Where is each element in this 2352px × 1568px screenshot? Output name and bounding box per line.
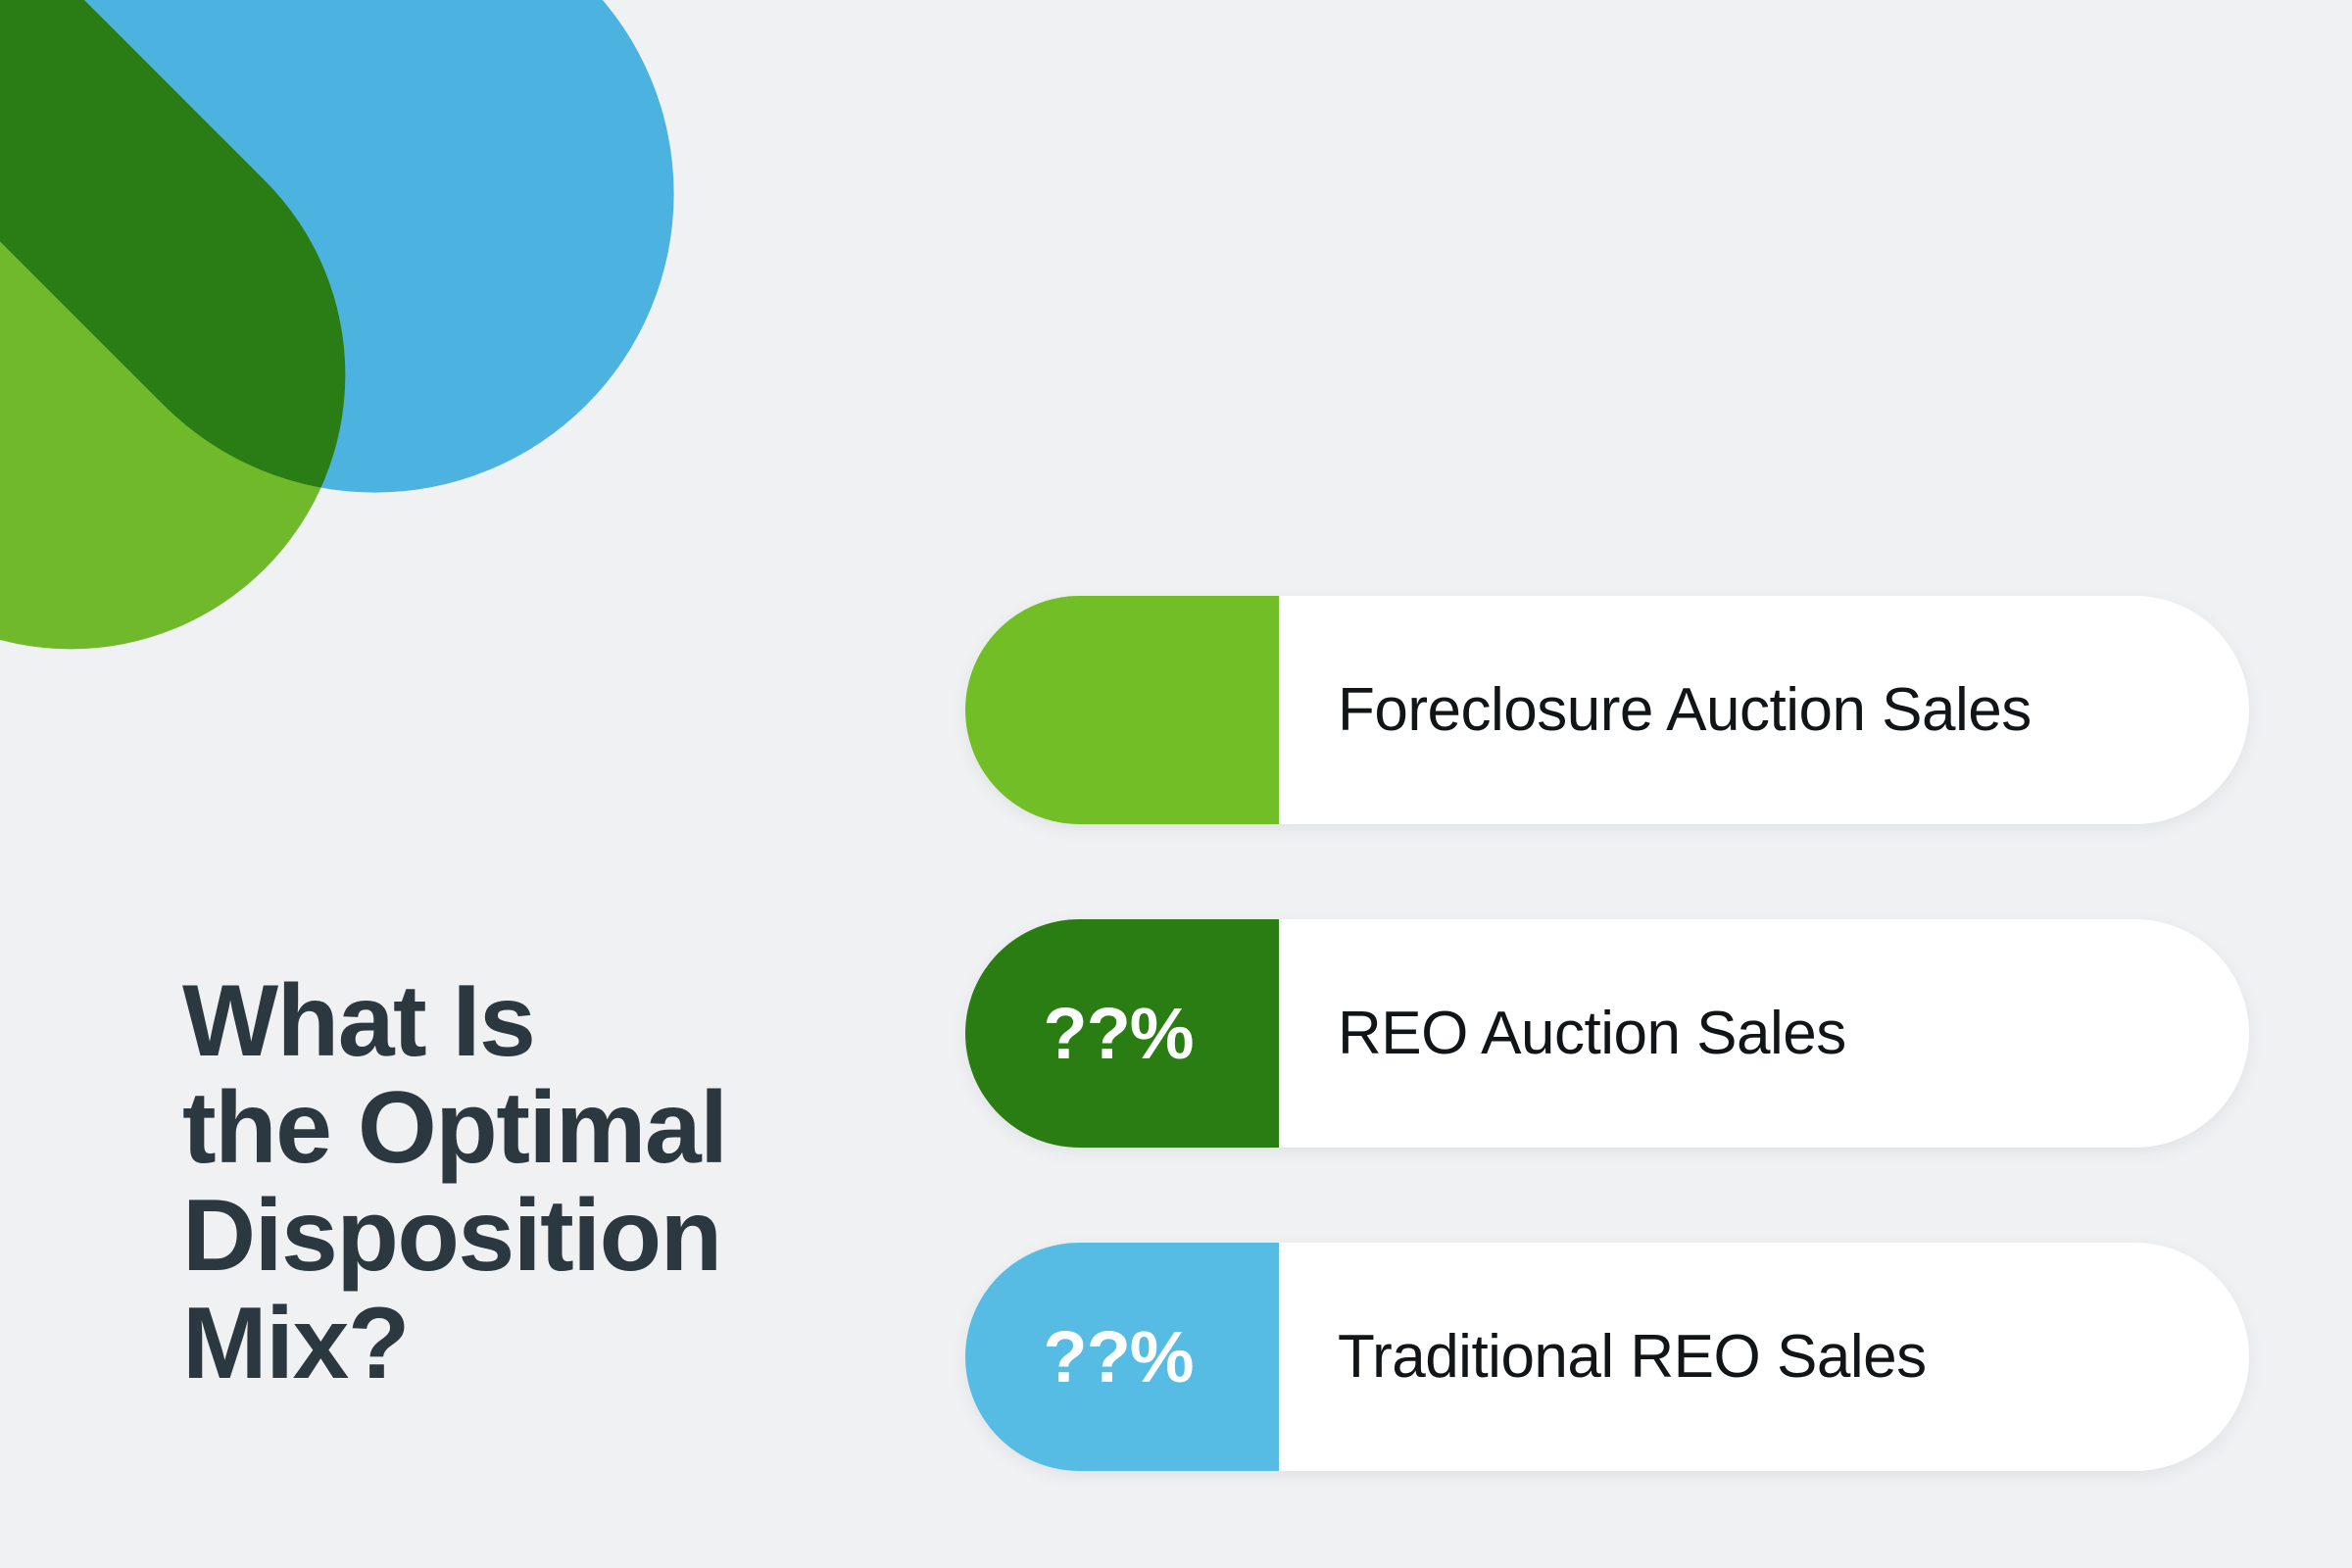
bar-percent-value: ??% <box>965 1243 1279 1471</box>
infographic-canvas: What Is the Optimal Disposition Mix? ??%… <box>0 0 2352 1568</box>
bar-category-label: REO Auction Sales <box>1279 919 2249 1148</box>
bar-percent-value: ??% <box>965 919 1279 1148</box>
decorative-capsules-graphic <box>0 0 823 764</box>
blue-capsule-shape <box>0 0 798 616</box>
disposition-mix-bar-list: ??% Foreclosure Auction Sales ??% REO Au… <box>965 596 2249 1471</box>
bar-traditional-reo-sales[interactable]: ??% Traditional REO Sales <box>965 1243 2249 1471</box>
dark-green-overlap-shape <box>0 0 798 616</box>
bar-category-label: Traditional REO Sales <box>1279 1243 2249 1471</box>
bar-reo-auction-sales[interactable]: ??% REO Auction Sales <box>965 919 2249 1148</box>
page-title: What Is the Optimal Disposition Mix? <box>182 968 927 1398</box>
bar-category-label: Foreclosure Auction Sales <box>1279 596 2249 824</box>
bar-foreclosure-auction-sales[interactable]: ??% Foreclosure Auction Sales <box>965 596 2249 824</box>
light-green-capsule-shape <box>0 0 459 762</box>
bar-percent-value: ??% <box>965 596 1279 824</box>
